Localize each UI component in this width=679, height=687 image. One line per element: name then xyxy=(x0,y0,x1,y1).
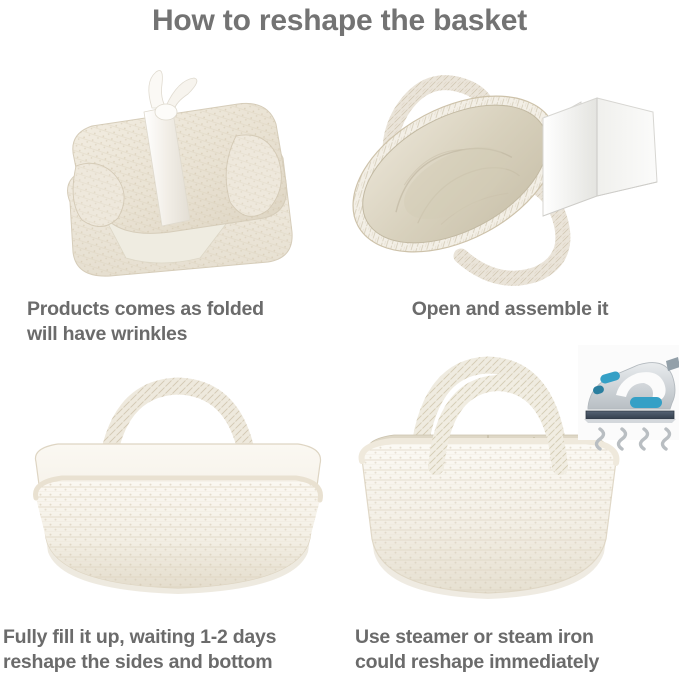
infographic-root: How to reshape the basket xyxy=(0,0,679,687)
ribbon-loop-left xyxy=(149,71,166,109)
steam-iron-icon xyxy=(578,345,679,449)
divider-panel-right xyxy=(597,98,657,196)
divider-insert xyxy=(543,98,657,216)
ribbon-knot xyxy=(155,104,177,120)
steamed-basket-photo xyxy=(338,345,679,613)
caption-fully-fill: Fully fill it up, waiting 1-2 days resha… xyxy=(3,625,353,675)
folded-basket-photo xyxy=(40,62,330,290)
caption-open-assemble: Open and assemble it xyxy=(350,297,670,322)
page-title: How to reshape the basket xyxy=(0,2,679,40)
iron-soleplate xyxy=(586,411,674,419)
opened-basket-photo xyxy=(345,60,675,288)
divider-panel-left xyxy=(543,98,597,216)
caption-products-folded: Products comes as folded will have wrink… xyxy=(27,297,327,347)
iron-grip-bar xyxy=(630,397,662,408)
filled-basket-photo xyxy=(18,352,338,614)
caption-use-steamer: Use steamer or steam iron could reshape … xyxy=(355,625,679,675)
